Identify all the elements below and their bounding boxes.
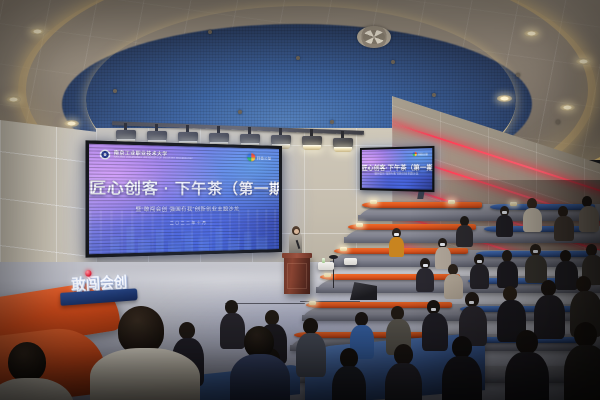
ceiling-downlight [576,58,591,65]
sprinkler-icon [208,30,212,34]
ceiling-downlight [6,96,21,103]
step-edge-light [370,200,377,204]
stage-spotlight [333,136,353,151]
university-logo: 南京工业职业技术大学 NANJING VOCATIONAL UNIVERSITY… [100,149,193,161]
small-side-table[interactable] [318,262,334,270]
ceiling-downlight [524,30,539,37]
side-monitor-subtitle: “敢闯会创 强国有我”创新创业主题沙龙 [362,171,432,176]
seat-cushion-orange[interactable] [362,202,482,208]
presenter-face [294,229,299,234]
step-edge-light [510,202,517,206]
sprinkler-icon [556,120,560,124]
partner-brand-icon [412,152,416,156]
sprinkler-icon [113,89,117,93]
ceiling-downlight [560,104,575,111]
ceiling-downlight [497,95,512,102]
side-monitor-partner-logo: 科技公益 [412,152,427,157]
step-edge-light [324,273,331,277]
sprinkler-icon [238,110,242,114]
screen-skyline-graphic [89,209,279,254]
step-edge-light [448,200,455,204]
partner-brand-icon [247,153,255,161]
podium-front-panel [287,263,307,289]
ceiling-downlight [30,28,45,35]
podium-top-surface [282,253,312,258]
university-crest-icon [100,149,111,159]
sprinkler-icon [330,120,334,124]
side-monitor-partner-label: 科技公益 [418,152,428,157]
partner-label: 科技公益 [257,155,271,160]
step-edge-light [356,223,363,227]
acrylic-stage-sign: 敢闯会创 [57,269,139,306]
sprinkler-icon [432,93,436,97]
screen-event-subtitle: 暨“敢闯会创 强国有我”创新创业主题沙龙 [89,205,279,213]
sprinkler-icon [516,73,520,77]
step-edge-light [309,301,316,305]
university-name-en: NANJING VOCATIONAL UNIVERSITY OF INDUSTR… [114,156,193,160]
side-wall-monitor[interactable]: 科技公益 匠心创客·下午茶（第一期） “敢闯会创 强国有我”创新创业主题沙龙 [360,146,434,192]
water-bottle [322,258,325,263]
main-led-screen[interactable]: 南京工业职业技术大学 NANJING VOCATIONAL UNIVERSITY… [86,140,282,257]
screen-event-title: 匠心创客 · 下午茶（第一期） [89,181,279,197]
step-edge-light [340,247,347,251]
sprinkler-icon [296,56,300,60]
seat-cushion-orange[interactable] [320,274,460,280]
small-side-table[interactable] [344,258,357,265]
ceiling-downlight [64,120,79,127]
auditorium-photo: 南京工业职业技术大学 NANJING VOCATIONAL UNIVERSITY… [0,0,600,400]
partner-logo: 科技公益 [247,153,271,162]
stage-spotlight [302,134,322,149]
ceiling-air-diffuser-icon [357,26,391,48]
sprinkler-icon [391,60,395,64]
speaker-podium[interactable] [284,256,310,294]
